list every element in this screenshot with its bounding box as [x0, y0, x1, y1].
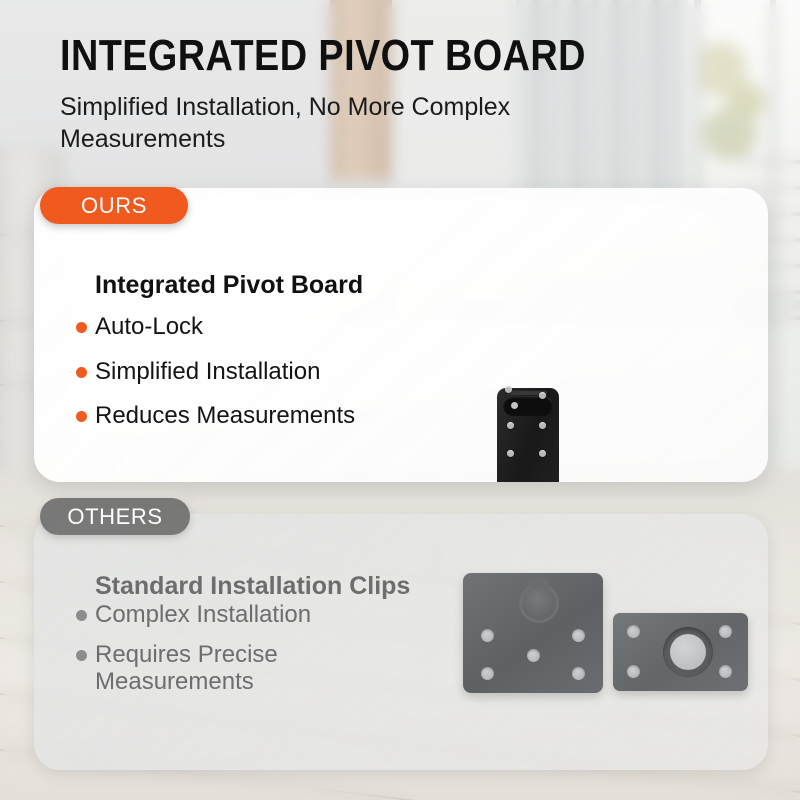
product-image-integrated-pivot-board: VEVOR LEFT [489, 378, 768, 482]
bullet-dot-icon [76, 367, 87, 378]
bullet-dot-icon [76, 650, 87, 661]
page-title: INTEGRATED PIVOT BOARD [60, 34, 653, 78]
bullet-dot-icon [76, 610, 87, 621]
square-plate-clip-icon [519, 583, 559, 623]
product-image-standard-clips [455, 565, 755, 715]
header: INTEGRATED PIVOT BOARD Simplified Instal… [60, 34, 750, 155]
others-feature-list: Complex Installation Requires Precise Me… [76, 601, 325, 708]
rect-plate-center-ring [663, 627, 713, 677]
list-item: Simplified Installation [76, 358, 355, 386]
rectangular-mounting-plate [613, 613, 748, 691]
badge-others: OTHERS [40, 498, 190, 535]
others-bullet-text: Complex Installation [95, 601, 311, 629]
ours-feature-list: Auto-Lock Simplified Installation Reduce… [76, 313, 355, 447]
auto-lock-mechanism-icon [503, 396, 553, 416]
infographic-canvas: INTEGRATED PIVOT BOARD Simplified Instal… [0, 0, 800, 800]
ours-bullet-text: Reduces Measurements [95, 402, 355, 430]
bullet-dot-icon [76, 322, 87, 333]
page-subtitle: Simplified Installation, No More Complex… [60, 92, 650, 155]
bullet-dot-icon [76, 411, 87, 422]
badge-ours: OURS [40, 187, 188, 224]
square-mounting-plate [463, 573, 603, 693]
others-heading: Standard Installation Clips [95, 572, 410, 601]
ours-bullet-text: Auto-Lock [95, 313, 203, 341]
list-item: Auto-Lock [76, 313, 355, 341]
ours-bullet-text: Simplified Installation [95, 358, 320, 386]
list-item: Requires Precise Measurements [76, 641, 325, 696]
list-item: Reduces Measurements [76, 402, 355, 430]
others-bullet-text: Requires Precise Measurements [95, 641, 325, 696]
ours-heading: Integrated Pivot Board [95, 271, 363, 300]
list-item: Complex Installation [76, 601, 325, 629]
